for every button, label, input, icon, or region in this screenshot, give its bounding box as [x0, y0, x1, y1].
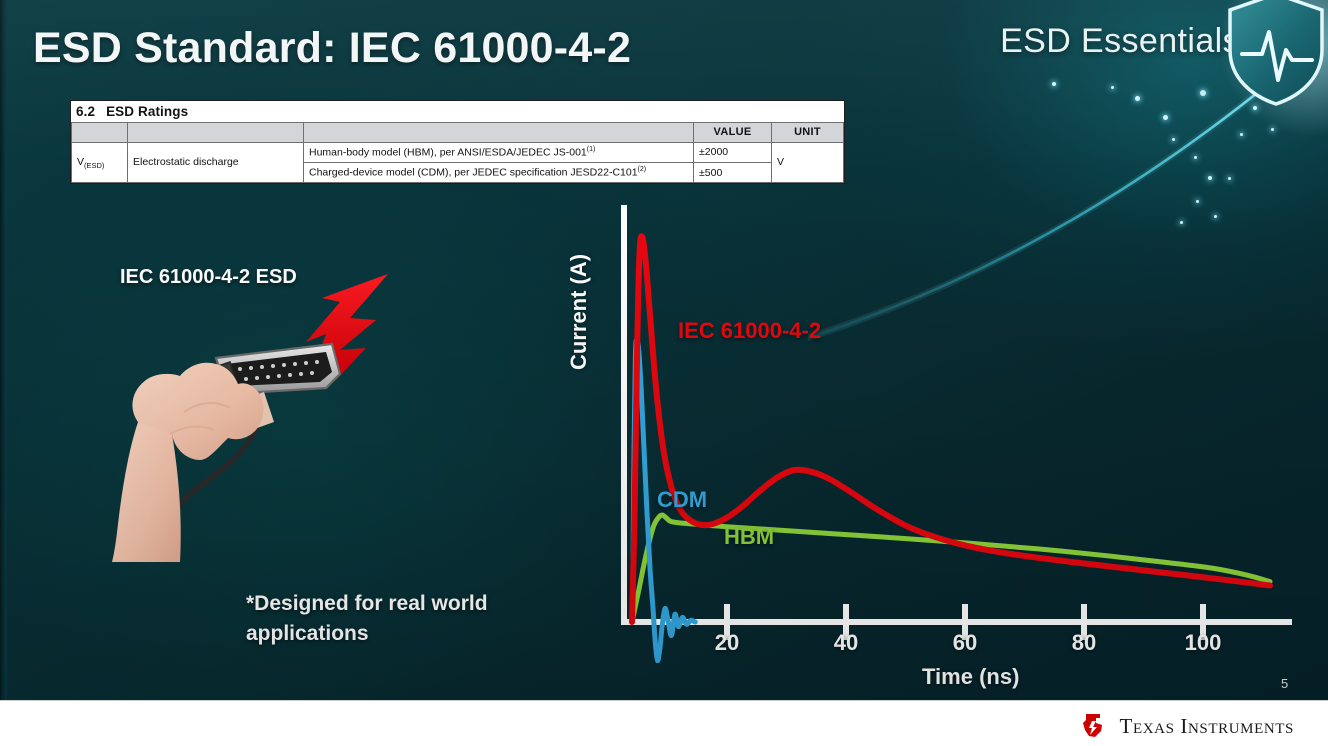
particle-star — [1208, 176, 1212, 180]
table-header-blank-parameter — [128, 123, 304, 143]
table-row: V(ESD) Electrostatic discharge Human-bod… — [72, 143, 844, 163]
slide-left-edge-accent — [0, 0, 7, 700]
table-header-row: VALUE UNIT — [72, 123, 844, 143]
particle-star — [1228, 177, 1231, 180]
condition-text: Human-body model (HBM), per ANSI/ESDA/JE… — [309, 147, 587, 159]
particle-star — [1240, 133, 1243, 136]
cell-condition: Human-body model (HBM), per ANSI/ESDA/JE… — [304, 143, 694, 163]
condition-text: Charged-device model (CDM), per JEDEC sp… — [309, 167, 638, 179]
x-tick-label: 40 — [834, 630, 858, 656]
cell-unit: V — [772, 143, 844, 183]
table-header-blank-symbol — [72, 123, 128, 143]
table-section-title: 6.2ESD Ratings — [71, 101, 844, 122]
particle-star — [1052, 82, 1056, 86]
x-tick-label: 80 — [1072, 630, 1096, 656]
symbol-subscript: (ESD) — [84, 161, 104, 170]
slide-footer: Texas Instruments — [0, 700, 1328, 746]
table-header-unit: UNIT — [772, 123, 844, 143]
cell-value: ±2000 — [694, 143, 772, 163]
particle-star — [1163, 115, 1168, 120]
hand-holding-connector-icon — [88, 262, 438, 562]
table-section-number: 6.2 — [76, 104, 95, 119]
texas-instruments-logo-icon — [1078, 711, 1108, 741]
cell-parameter: Electrostatic discharge — [128, 143, 304, 183]
particle-star — [1200, 90, 1206, 96]
brand-label: ESD Essentials — [1000, 22, 1240, 61]
esd-waveform-chart — [570, 200, 1315, 700]
table-header-value: VALUE — [694, 123, 772, 143]
page-number: 5 — [1281, 676, 1288, 691]
x-tick-label: 60 — [953, 630, 977, 656]
condition-footnote: (2) — [638, 166, 647, 173]
particle-star — [1135, 96, 1140, 101]
page-title: ESD Standard: IEC 61000-4-2 — [33, 24, 631, 73]
particle-star — [1172, 138, 1175, 141]
table-header-blank-condition — [304, 123, 694, 143]
series-label-hbm: HBM — [724, 524, 774, 550]
y-axis-label: Current (A) — [566, 254, 592, 370]
x-tick-label: 20 — [715, 630, 739, 656]
cell-condition: Charged-device model (CDM), per JEDEC sp… — [304, 163, 694, 183]
shield-icon — [1220, 0, 1328, 110]
company-name: Texas Instruments — [1120, 714, 1294, 739]
slide-canvas: ESD Standard: IEC 61000-4-2 ESD Essentia… — [0, 0, 1328, 700]
note-text: *Designed for real world applications — [246, 589, 576, 649]
cell-value: ±500 — [694, 163, 772, 183]
condition-footnote: (1) — [587, 146, 596, 153]
series-label-cdm: CDM — [657, 487, 707, 513]
cell-symbol: V(ESD) — [72, 143, 128, 183]
series-label-iec: IEC 61000-4-2 — [678, 318, 821, 344]
particle-star — [1194, 156, 1197, 159]
texas-instruments-logo: Texas Instruments — [1078, 711, 1294, 741]
x-axis-label: Time (ns) — [922, 664, 1019, 690]
particle-star — [1271, 128, 1274, 131]
particle-star — [1111, 86, 1114, 89]
symbol-text: V — [77, 156, 84, 168]
esd-ratings-table: 6.2ESD Ratings VALUE UNIT V(ESD) Electro… — [70, 100, 845, 184]
table-section-name: ESD Ratings — [106, 104, 188, 119]
x-tick-label: 100 — [1185, 630, 1222, 656]
